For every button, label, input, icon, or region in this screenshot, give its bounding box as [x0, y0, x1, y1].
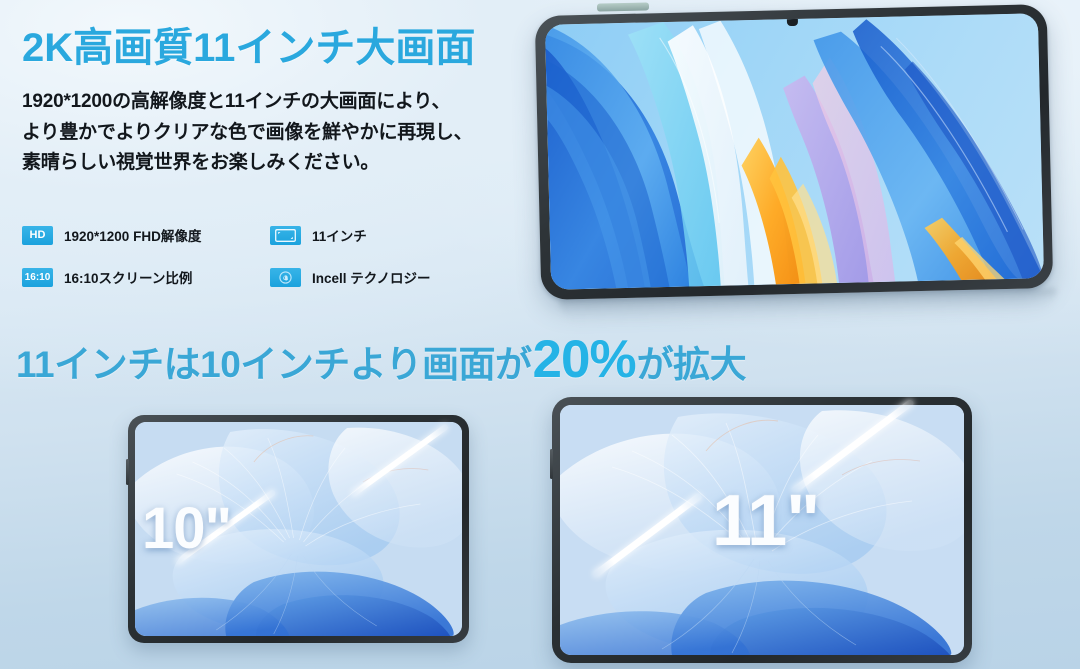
- description-line-3: 素晴らしい視覚世界をお楽しみください。: [22, 148, 542, 179]
- hero-tablet-device: [535, 4, 1054, 300]
- feature-item-incell: Incell テクノロジー: [270, 267, 518, 287]
- front-camera-notch: [786, 19, 797, 26]
- description-line-2: より豊かでよりクリアな色で画像を鮮やかに再現し、: [22, 118, 542, 149]
- screen-size-icon: [270, 226, 301, 245]
- feature-label-resolution: 1920*1200 FHD解像度: [64, 225, 201, 245]
- comparison-headline: 11インチは10インチより画面が 20% が拡大: [16, 333, 746, 386]
- feature-item-screen-size: 11インチ: [270, 225, 518, 245]
- top-copy-block: 2K高画質11インチ大画面 1920*1200の高解像度と11インチの大画面によ…: [22, 26, 542, 179]
- feature-badge-list: HD 1920*1200 FHD解像度 11インチ 16:10 16:10スクリ…: [22, 214, 522, 298]
- hd-badge-icon: HD: [22, 226, 53, 245]
- description-line-1: 1920*1200の高解像度と11インチの大画面により、: [22, 87, 542, 118]
- tablet-size-label-11: 11": [712, 480, 819, 562]
- feature-item-resolution: HD 1920*1200 FHD解像度: [22, 225, 270, 245]
- volume-button-large: [550, 449, 553, 479]
- page-title: 2K高画質11インチ大画面: [22, 26, 542, 71]
- feature-label-aspect-ratio: 16:10スクリーン比例: [64, 267, 192, 287]
- volume-button-small: [126, 459, 129, 485]
- hero-tablet-figure: [535, 2, 1080, 302]
- hero-tablet-screen: [545, 13, 1044, 290]
- tablet-size-label-10: 10": [142, 495, 231, 562]
- feature-label-incell: Incell テクノロジー: [312, 267, 430, 287]
- hero-wallpaper: [545, 13, 1044, 290]
- product-feature-page: 2K高画質11インチ大画面 1920*1200の高解像度と11インチの大画面によ…: [0, 0, 1080, 669]
- comparison-headline-suffix: が拡大: [637, 346, 747, 383]
- touch-finger-icon: [270, 268, 301, 287]
- comparison-headline-highlight: 20%: [533, 333, 636, 386]
- description-paragraph: 1920*1200の高解像度と11インチの大画面により、 より豊かでよりクリアな…: [22, 87, 542, 179]
- feature-item-aspect-ratio: 16:10 16:10スクリーン比例: [22, 267, 270, 287]
- hero-power-button: [597, 2, 649, 11]
- comparison-headline-prefix: 11インチは10インチより画面が: [16, 346, 532, 383]
- feature-label-screen-size: 11インチ: [312, 225, 367, 245]
- aspect-ratio-icon: 16:10: [22, 268, 53, 287]
